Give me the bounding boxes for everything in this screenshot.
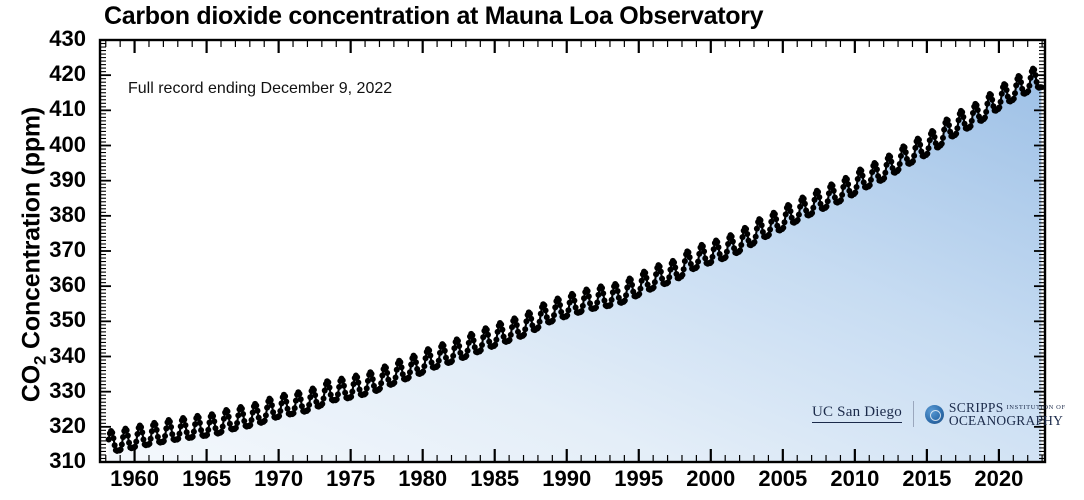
- ucsd-logo: UC San Diego: [812, 405, 902, 423]
- chart-figure: Carbon dioxide concentration at Mauna Lo…: [0, 0, 1084, 500]
- logo-divider: [913, 401, 914, 427]
- scripps-wordmark: SCRIPPSINSTITUTION OF OCEANOGRAPHY: [949, 401, 1066, 428]
- scripps-logo: SCRIPPSINSTITUTION OF OCEANOGRAPHY: [925, 401, 1066, 428]
- scripps-seal-icon: [925, 405, 944, 424]
- logo-group: UC San Diego SCRIPPSINSTITUTION OF OCEAN…: [812, 398, 1066, 430]
- chart-annotation: Full record ending December 9, 2022: [128, 80, 392, 98]
- scripps-line2: OCEANOGRAPHY: [949, 414, 1066, 428]
- scripps-subline: INSTITUTION OF: [1007, 404, 1066, 411]
